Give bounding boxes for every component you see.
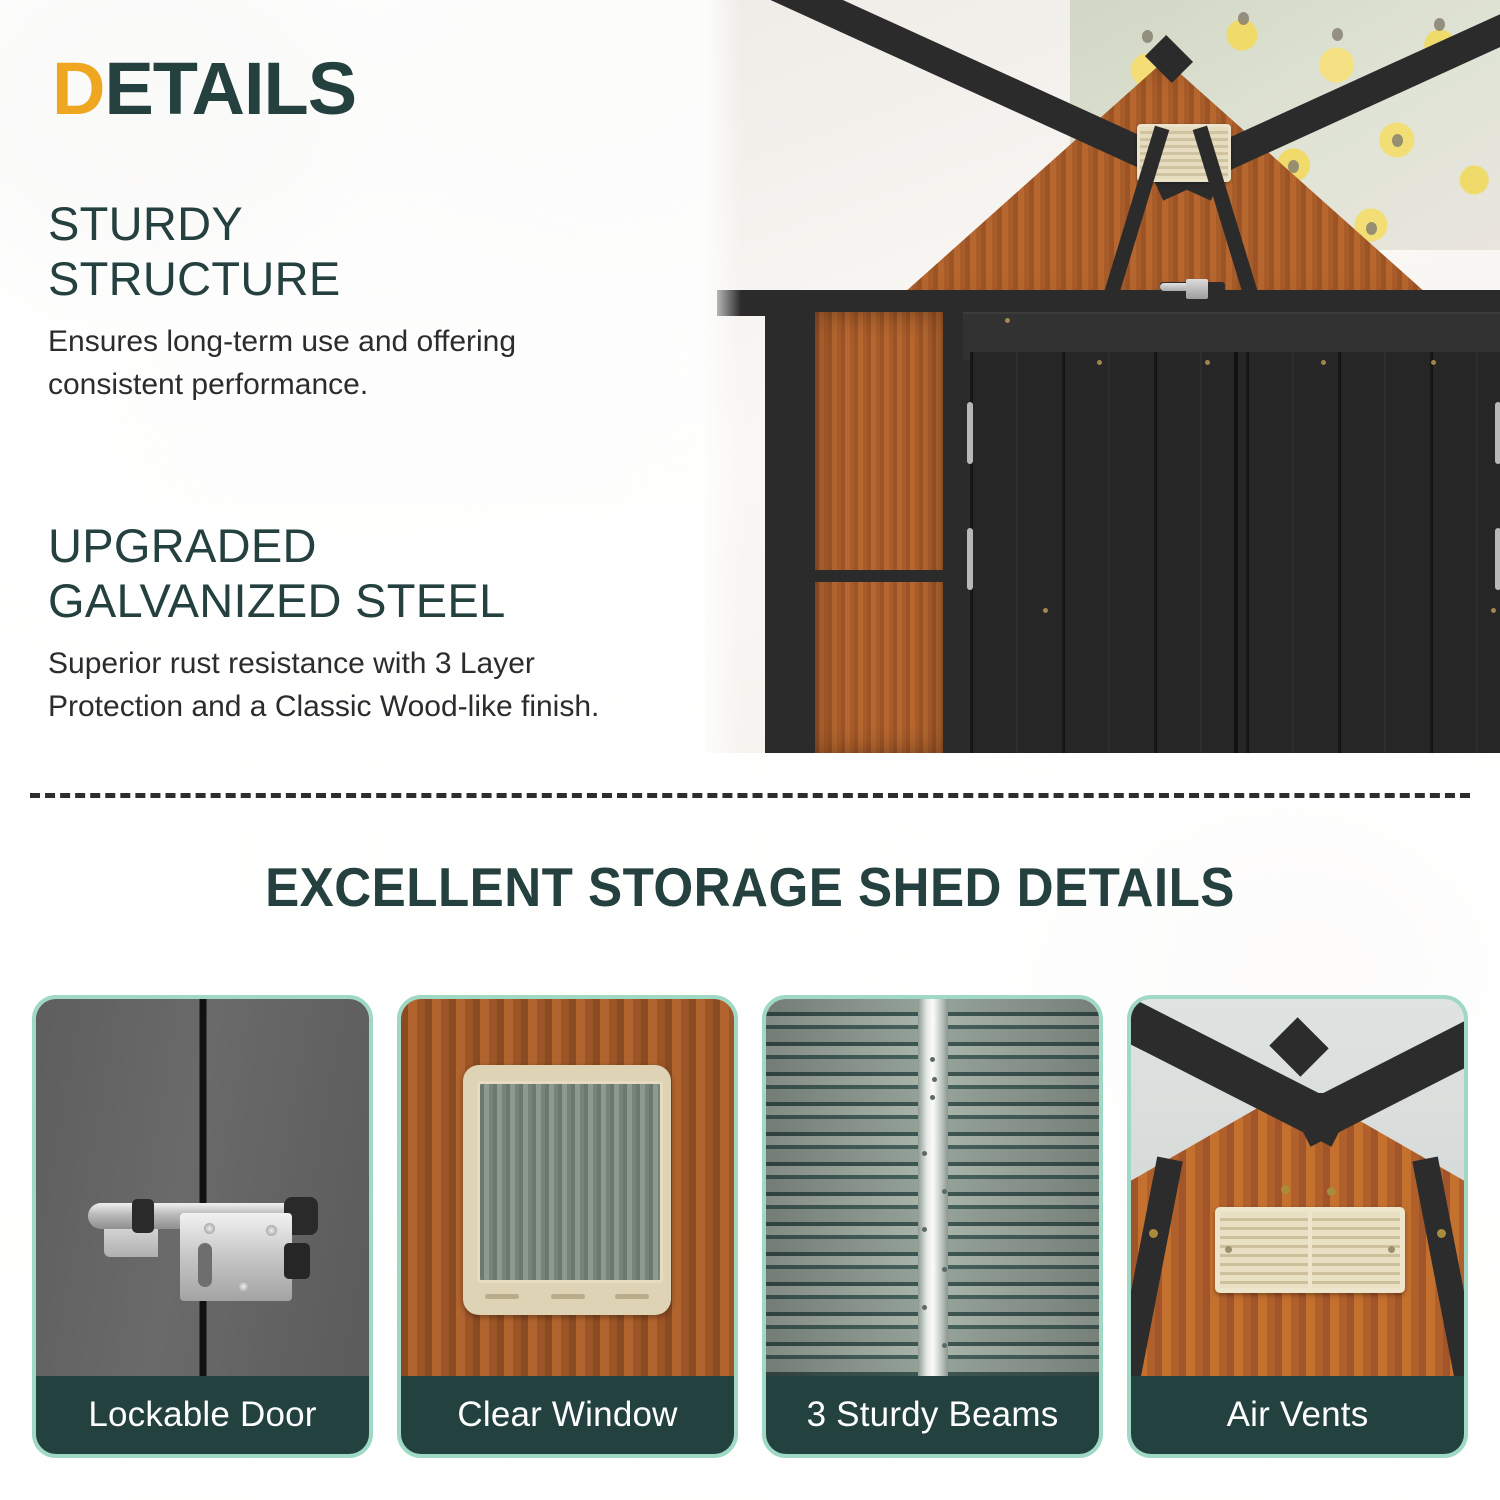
section-title: EXCELLENT STORAGE SHED DETAILS [53, 855, 1448, 919]
door-hinge [1495, 528, 1500, 590]
card-caption: Clear Window [401, 1376, 734, 1454]
shed-illustration [705, 0, 1500, 753]
vent-screw [1388, 1246, 1395, 1253]
window-pane [477, 1081, 663, 1283]
rivet [1431, 360, 1436, 365]
window-tab [615, 1294, 649, 1299]
card-caption: Air Vents [1131, 1376, 1464, 1454]
hero-left-fade [705, 0, 741, 753]
rivet [1205, 360, 1210, 365]
panel-shade-right [949, 999, 1099, 1376]
lock-collar-left [132, 1199, 154, 1233]
detail-card-lockable-door[interactable]: Lockable Door [32, 995, 373, 1458]
rivet [1321, 360, 1326, 365]
beam-bolt [922, 1151, 927, 1156]
panel-screw [1281, 1185, 1290, 1194]
brace-screw [1437, 1229, 1446, 1238]
feature-description: Superior rust resistance with 3 Layer Pr… [48, 643, 599, 728]
shed-hero-image [705, 0, 1500, 753]
door-hinge [967, 402, 973, 464]
page-title-rest: ETAILS [104, 47, 356, 130]
dashed-divider [30, 793, 1470, 798]
vent-divider [1308, 1212, 1312, 1288]
panel-shade-left [766, 999, 916, 1376]
detail-card-clear-window[interactable]: Clear Window [397, 995, 738, 1458]
beam-bolt [922, 1227, 927, 1232]
door-seam [1234, 352, 1238, 753]
beam-bolt [942, 1343, 947, 1348]
page-title: DETAILS [52, 52, 356, 126]
card-image [36, 999, 369, 1376]
support-beam [918, 999, 948, 1376]
door-latch [1160, 278, 1212, 300]
beam-bolt [930, 1095, 935, 1100]
louvered-air-vent [1215, 1207, 1405, 1293]
beam-bolt [922, 1305, 927, 1310]
screw [204, 1223, 215, 1234]
card-caption: 3 Sturdy Beams [766, 1376, 1099, 1454]
brace-screw [1149, 1229, 1158, 1238]
beam-bolt [932, 1077, 937, 1082]
window-tab [485, 1294, 519, 1299]
padlock-hole [198, 1243, 212, 1287]
beam-bolt [930, 1057, 935, 1062]
shed-panel-trim [815, 570, 943, 582]
rivet [1491, 608, 1496, 613]
card-image [1131, 999, 1464, 1376]
door-hinge [1495, 402, 1500, 464]
screw [238, 1281, 249, 1292]
detail-cards-row: Lockable Door Clear Window [32, 995, 1468, 1458]
lock-catch-tab [284, 1243, 310, 1279]
feature-block-sturdy-structure: STURDY STRUCTURE Ensures long-term use a… [48, 196, 516, 406]
card-image [401, 999, 734, 1376]
window-tab [551, 1294, 585, 1299]
detail-card-air-vents[interactable]: Air Vents [1127, 995, 1468, 1458]
beam-bolt [942, 1189, 947, 1194]
shed-wood-panel [815, 312, 943, 753]
detail-card-sturdy-beams[interactable]: 3 Sturdy Beams [762, 995, 1103, 1458]
vent-screw [1225, 1246, 1232, 1253]
card-image [766, 999, 1099, 1376]
card-caption: Lockable Door [36, 1376, 369, 1454]
product-detail-page: DETAILS STURDY STRUCTURE Ensures long-te… [0, 0, 1500, 1500]
beam-bolt [942, 1267, 947, 1272]
page-title-accent-letter: D [52, 47, 104, 130]
feature-block-galvanized-steel: UPGRADED GALVANIZED STEEL Superior rust … [48, 518, 599, 728]
slide-bolt-lock [88, 1185, 333, 1307]
rivet [1097, 360, 1102, 365]
panel-screw [1327, 1187, 1336, 1196]
rivet [1043, 608, 1048, 613]
screw [266, 1225, 277, 1236]
door-hinge [967, 528, 973, 590]
feature-description: Ensures long-term use and offering consi… [48, 321, 516, 406]
feature-title: STURDY STRUCTURE [48, 196, 516, 307]
window-frame [463, 1065, 671, 1315]
rivet [1005, 318, 1010, 323]
feature-title: UPGRADED GALVANIZED STEEL [48, 518, 599, 629]
latch-plate [1186, 279, 1208, 299]
